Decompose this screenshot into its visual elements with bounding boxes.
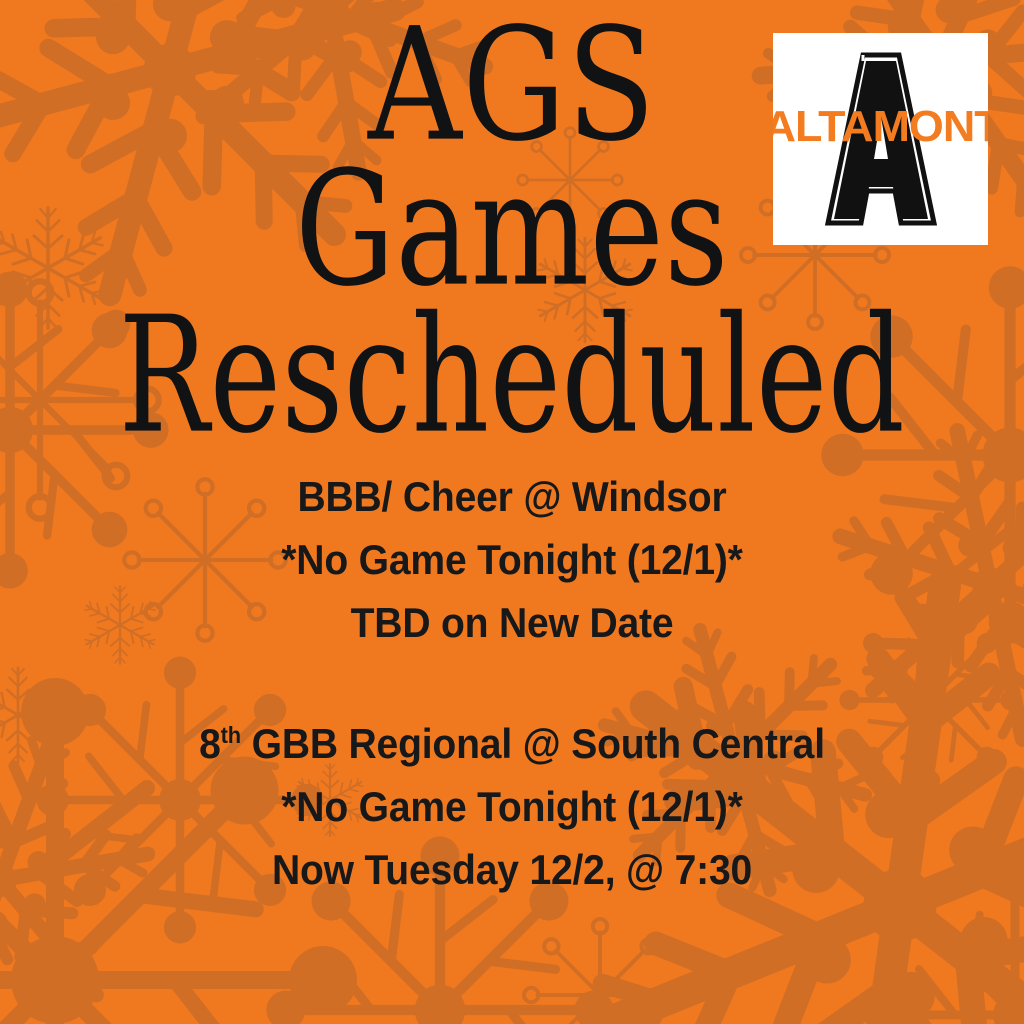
poster-canvas: ALTAMONT AGS Games Rescheduled BBB/ Chee…	[0, 0, 1024, 1024]
headline-line-3: Rescheduled	[0, 296, 1024, 455]
announcement-line: Now Tuesday 12/2, @ 7:30	[36, 838, 988, 901]
page-title: AGS Games Rescheduled	[0, 8, 1024, 412]
announcement-line: *No Game Tonight (12/1)*	[36, 775, 988, 838]
announcements: BBB/ Cheer @ Windsor *No Game Tonight (1…	[0, 465, 1024, 901]
ordinal-suffix: th	[221, 722, 241, 748]
announcement-line: *No Game Tonight (12/1)*	[36, 528, 988, 591]
announcement-line-with-ordinal: 8th GBB Regional @ South Central	[36, 712, 988, 775]
paragraph-spacer	[0, 654, 1024, 712]
announcement-line-text: GBB Regional @ South Central	[252, 720, 825, 767]
ordinal-number: 8	[199, 720, 221, 767]
announcement-line: BBB/ Cheer @ Windsor	[36, 465, 988, 528]
announcement-gbb-regional-south-central: 8th GBB Regional @ South Central *No Gam…	[0, 712, 1024, 901]
announcement-line: TBD on New Date	[36, 591, 988, 654]
announcement-bbb-cheer-windsor: BBB/ Cheer @ Windsor *No Game Tonight (1…	[0, 465, 1024, 654]
